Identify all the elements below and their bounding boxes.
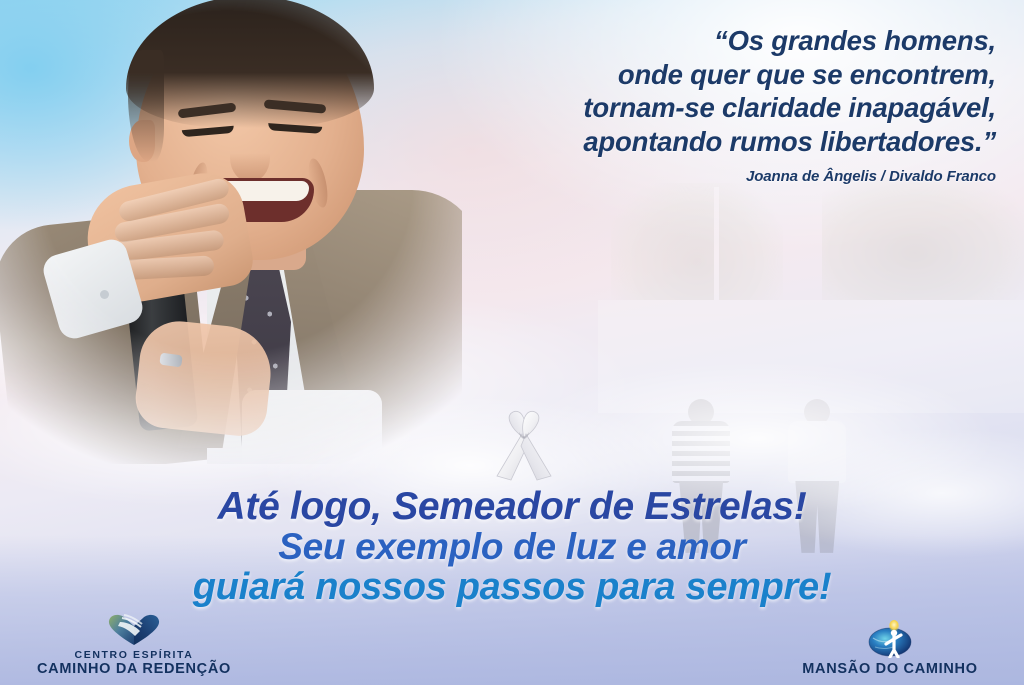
quote-block: “Os grandes homens, onde quer que se enc… bbox=[430, 24, 996, 185]
quote-attribution: Joanna de Ângelis / Divaldo Franco bbox=[430, 168, 996, 185]
portrait-fade-mask bbox=[0, 0, 462, 464]
memorial-poster: “Os grandes homens, onde quer que se enc… bbox=[0, 0, 1024, 685]
tribute-line-3: guiará nossos passos para sempre! bbox=[0, 567, 1024, 608]
mourning-ribbon bbox=[489, 408, 559, 486]
quote-line-2: onde quer que se encontrem, bbox=[430, 58, 996, 92]
brand-left-line1: CENTRO ESPÍRITA bbox=[14, 649, 254, 661]
brand-right-line1: MANSÃO DO CAMINHO bbox=[770, 661, 1010, 677]
tribute-line-1: Até logo, Semeador de Estrelas! bbox=[0, 486, 1024, 527]
quote-line-3: tornam-se claridade inapagável, bbox=[430, 91, 996, 125]
footer-logo-mansao-do-caminho: MANSÃO DO CAMINHO bbox=[770, 620, 1010, 677]
globe-figure-icon bbox=[865, 620, 915, 658]
heart-hands-icon bbox=[106, 612, 162, 646]
quote-line-1: “Os grandes homens, bbox=[430, 24, 996, 58]
white-ribbon-icon bbox=[489, 408, 559, 486]
tribute-line-2: Seu exemplo de luz e amor bbox=[0, 527, 1024, 567]
cuff-button bbox=[100, 290, 109, 299]
nose bbox=[230, 134, 270, 182]
brand-left-line2: CAMINHO DA REDENÇÃO bbox=[14, 661, 254, 677]
tribute-message: Até logo, Semeador de Estrelas! Seu exem… bbox=[0, 486, 1024, 608]
quote-line-4: apontando rumos libertadores.” bbox=[430, 125, 996, 159]
portrait-divaldo-franco bbox=[0, 0, 462, 464]
footer-logo-centro-espirita: CENTRO ESPÍRITA CAMINHO DA REDENÇÃO bbox=[14, 612, 254, 677]
